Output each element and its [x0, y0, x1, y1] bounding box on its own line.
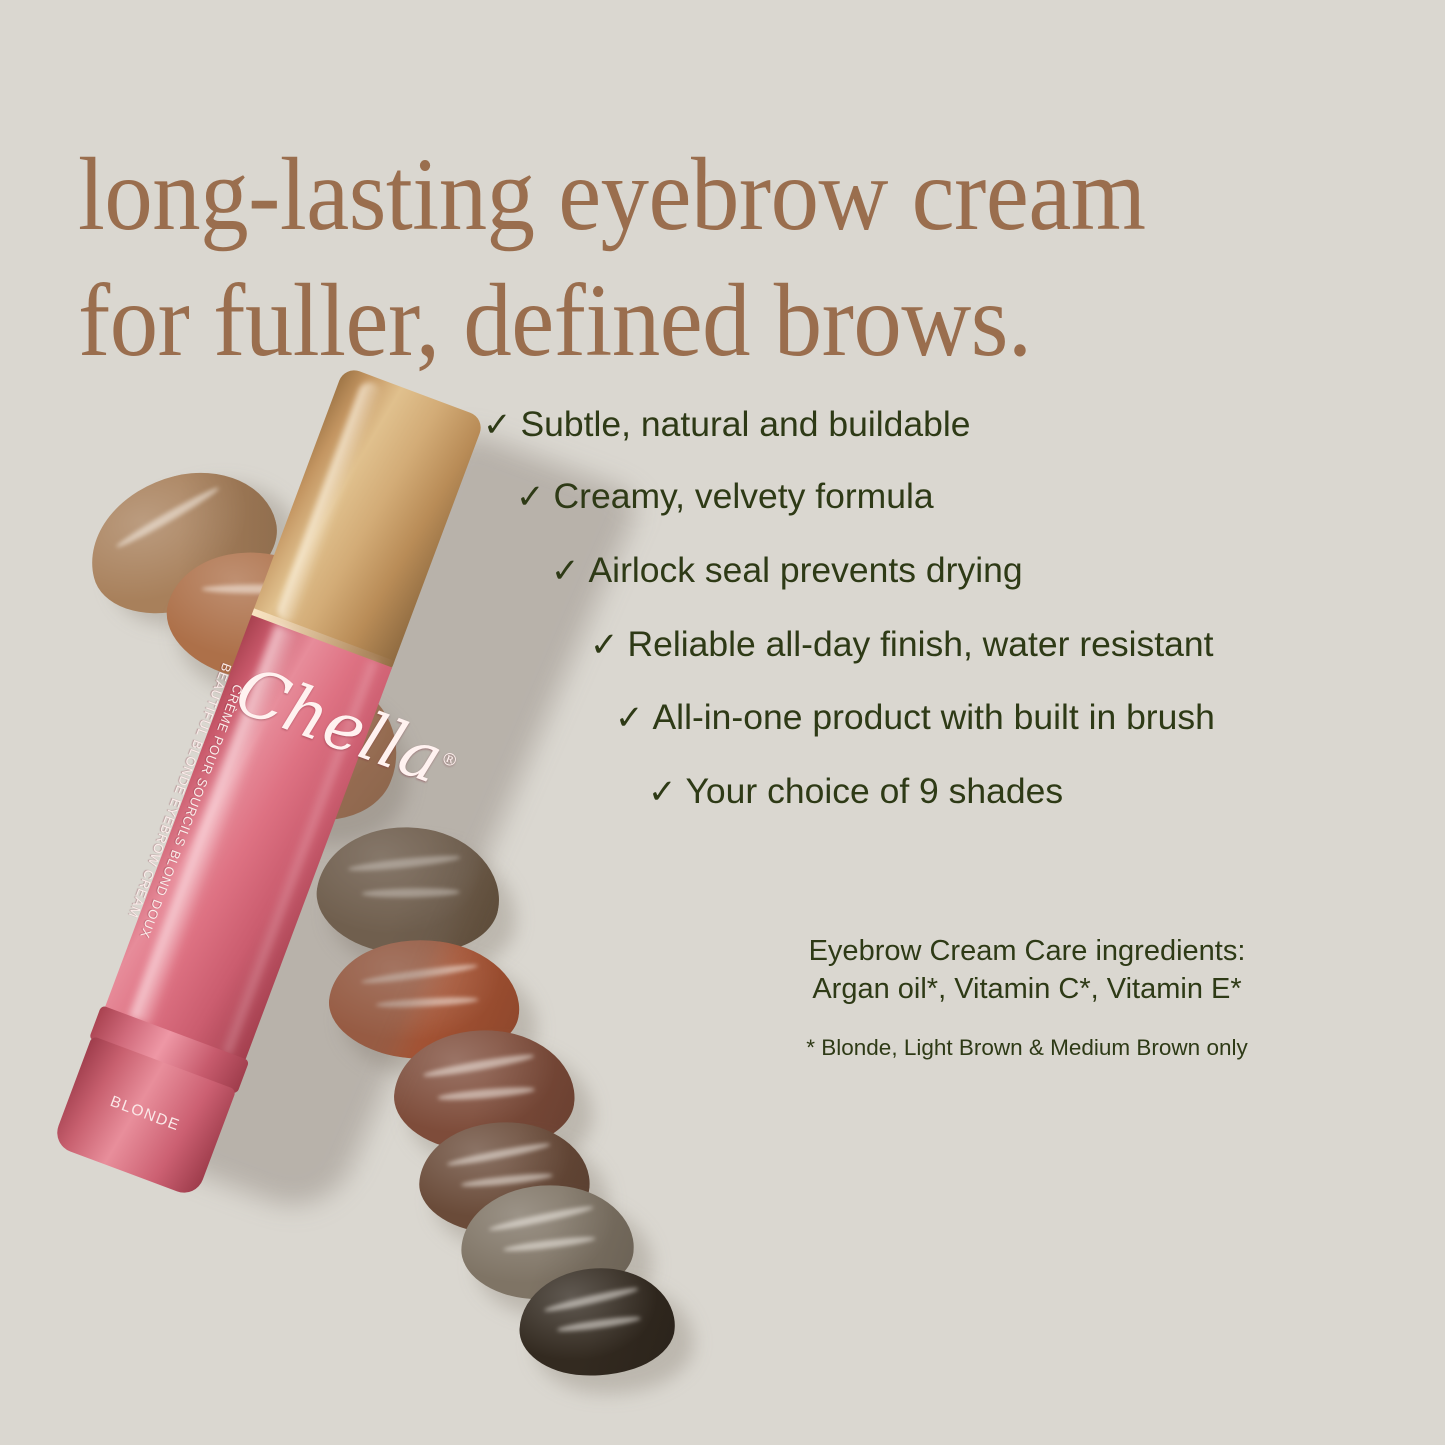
feature-label: Your choice of 9 shades	[686, 771, 1064, 812]
feature-item-5: ✓All-in-one product with built in brush	[615, 697, 1215, 738]
feature-item-6: ✓Your choice of 9 shades	[648, 771, 1063, 812]
ingredients-footnote: * Blonde, Light Brown & Medium Brown onl…	[612, 1033, 1442, 1062]
checkmark-icon: ✓	[590, 628, 619, 662]
feature-item-1: ✓Subtle, natural and buildable	[483, 404, 971, 445]
page-title: long-lasting eyebrow cream for fuller, d…	[78, 132, 1315, 384]
shade-name-label: BLONDE	[70, 1079, 221, 1150]
feature-label: All-in-one product with built in brush	[653, 697, 1215, 738]
feature-item-4: ✓Reliable all-day finish, water resistan…	[590, 624, 1214, 665]
ingredients-heading: Eyebrow Cream Care ingredients:	[612, 932, 1442, 970]
feature-label: Reliable all-day finish, water resistant	[628, 624, 1214, 665]
ingredients-list: Argan oil*, Vitamin C*, Vitamin E*	[612, 970, 1442, 1008]
feature-label: Subtle, natural and buildable	[521, 404, 971, 445]
checkmark-icon: ✓	[551, 554, 580, 588]
checkmark-icon: ✓	[483, 408, 512, 442]
feature-label: Airlock seal prevents drying	[589, 550, 1023, 591]
ingredients-block: Eyebrow Cream Care ingredients: Argan oi…	[612, 932, 1442, 1062]
feature-item-3: ✓Airlock seal prevents drying	[551, 550, 1023, 591]
feature-list: ✓Subtle, natural and buildable✓Creamy, v…	[0, 404, 1445, 824]
product-infographic: long-lasting eyebrow cream for fuller, d…	[0, 0, 1445, 1445]
checkmark-icon: ✓	[615, 701, 644, 735]
checkmark-icon: ✓	[648, 775, 677, 809]
checkmark-icon: ✓	[516, 480, 545, 514]
feature-item-2: ✓Creamy, velvety formula	[516, 476, 934, 517]
feature-label: Creamy, velvety formula	[554, 476, 934, 517]
